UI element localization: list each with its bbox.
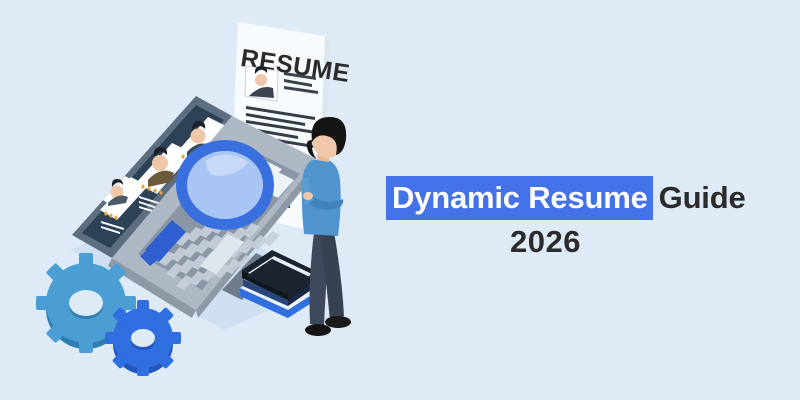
illustration-artwork: RESUME xyxy=(0,0,420,400)
illustration-banner: RESUME xyxy=(0,0,800,400)
resume-photo xyxy=(245,66,278,101)
headline-year: 2026 xyxy=(510,224,748,260)
gear-small xyxy=(105,300,181,376)
headline-highlight: Dynamic Resume xyxy=(386,176,653,220)
headline-block: Dynamic ResumeGuide 2026 xyxy=(388,176,748,260)
headline-plain: Guide xyxy=(653,180,746,215)
headline-line-1: Dynamic ResumeGuide xyxy=(388,176,748,220)
